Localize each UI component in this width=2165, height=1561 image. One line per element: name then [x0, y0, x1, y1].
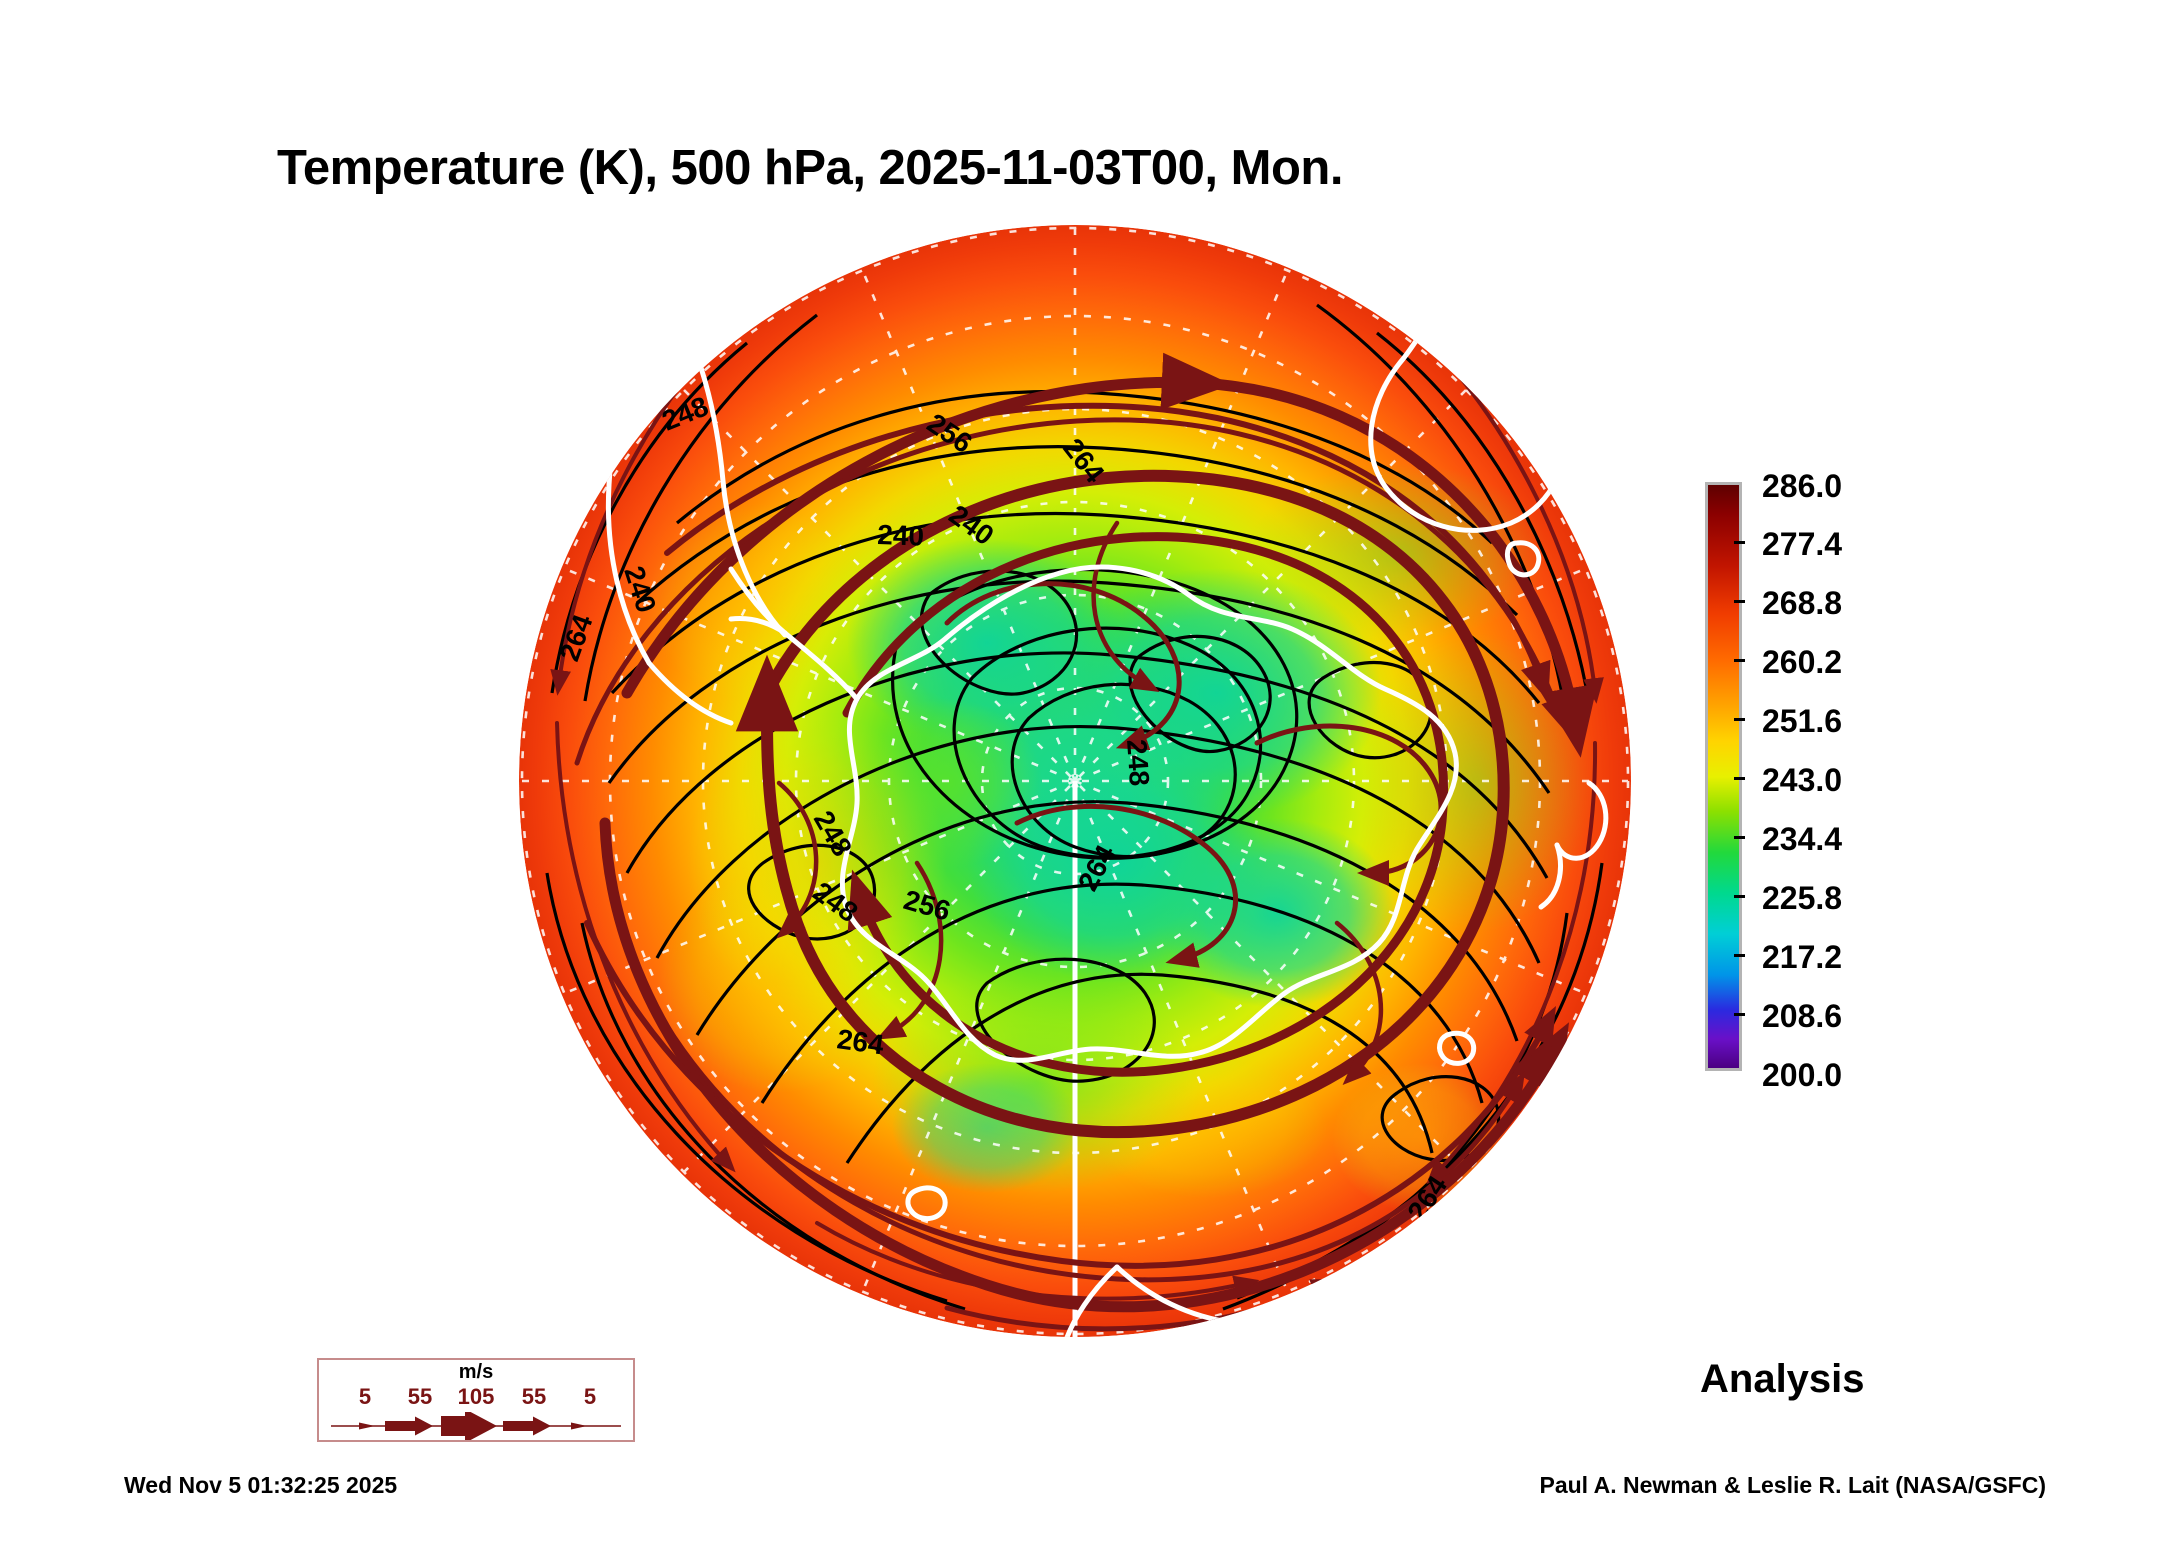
map-svg: 264 248 256 264 240 240 240 248 264 248 …: [517, 223, 1633, 1341]
colorbar-tick: [1734, 718, 1745, 721]
colorbar-label-243: 243.0: [1762, 764, 1842, 796]
wind-value-5-left: 5: [359, 1384, 371, 1410]
page-title: Temperature (K), 500 hPa, 2025-11-03T00,…: [0, 140, 1620, 196]
author-credit: Paul A. Newman & Leslie R. Lait (NASA/GS…: [1539, 1472, 2046, 1499]
colorbar-tick: [1734, 954, 1745, 957]
colorbar-tick: [1734, 659, 1745, 662]
colorbar-label-226: 225.8: [1762, 882, 1842, 914]
colorbar-label-269: 268.8: [1762, 587, 1842, 619]
colorbar-label-260: 260.2: [1762, 646, 1842, 678]
svg-text:248: 248: [1121, 738, 1155, 787]
svg-text:264: 264: [835, 1023, 886, 1060]
wind-arrow-scale: [319, 1412, 633, 1440]
wind-speed-legend: m/s 5 55 105 55 5: [317, 1358, 635, 1442]
colorbar-label-252: 251.6: [1762, 705, 1842, 737]
colorbar-label-217: 217.2: [1762, 941, 1842, 973]
generation-timestamp: Wed Nov 5 01:32:25 2025: [124, 1472, 397, 1499]
colorbar-tick: [1734, 836, 1745, 839]
analysis-label: Analysis: [1700, 1357, 1865, 1402]
colorbar: 286.0 277.4 268.8 260.2 251.6 243.0 234.…: [1700, 470, 2060, 1090]
wind-value-55-right: 55: [522, 1384, 546, 1410]
wind-value-55-left: 55: [408, 1384, 432, 1410]
svg-text:264: 264: [638, 281, 693, 337]
colorbar-label-209: 208.6: [1762, 1000, 1842, 1032]
map-disc: 264 248 256 264 240 240 240 248 264 248 …: [517, 225, 1631, 1341]
colorbar-tick: [1734, 600, 1745, 603]
colorbar-label-234: 234.4: [1762, 823, 1842, 855]
colorbar-label-286: 286.0: [1762, 470, 1842, 502]
wind-unit-label: m/s: [319, 1361, 633, 1384]
colorbar-label-277: 277.4: [1762, 528, 1842, 560]
colorbar-tick: [1734, 1013, 1745, 1016]
wind-value-105: 105: [458, 1384, 495, 1410]
wind-value-5-right: 5: [584, 1384, 596, 1410]
polar-temperature-map: 264 248 256 264 240 240 240 248 264 248 …: [517, 223, 1633, 1341]
colorbar-tick: [1734, 541, 1745, 544]
svg-text:240: 240: [877, 519, 925, 552]
colorbar-tick: [1734, 895, 1745, 898]
colorbar-label-200: 200.0: [1762, 1059, 1842, 1091]
colorbar-tick: [1734, 777, 1745, 780]
